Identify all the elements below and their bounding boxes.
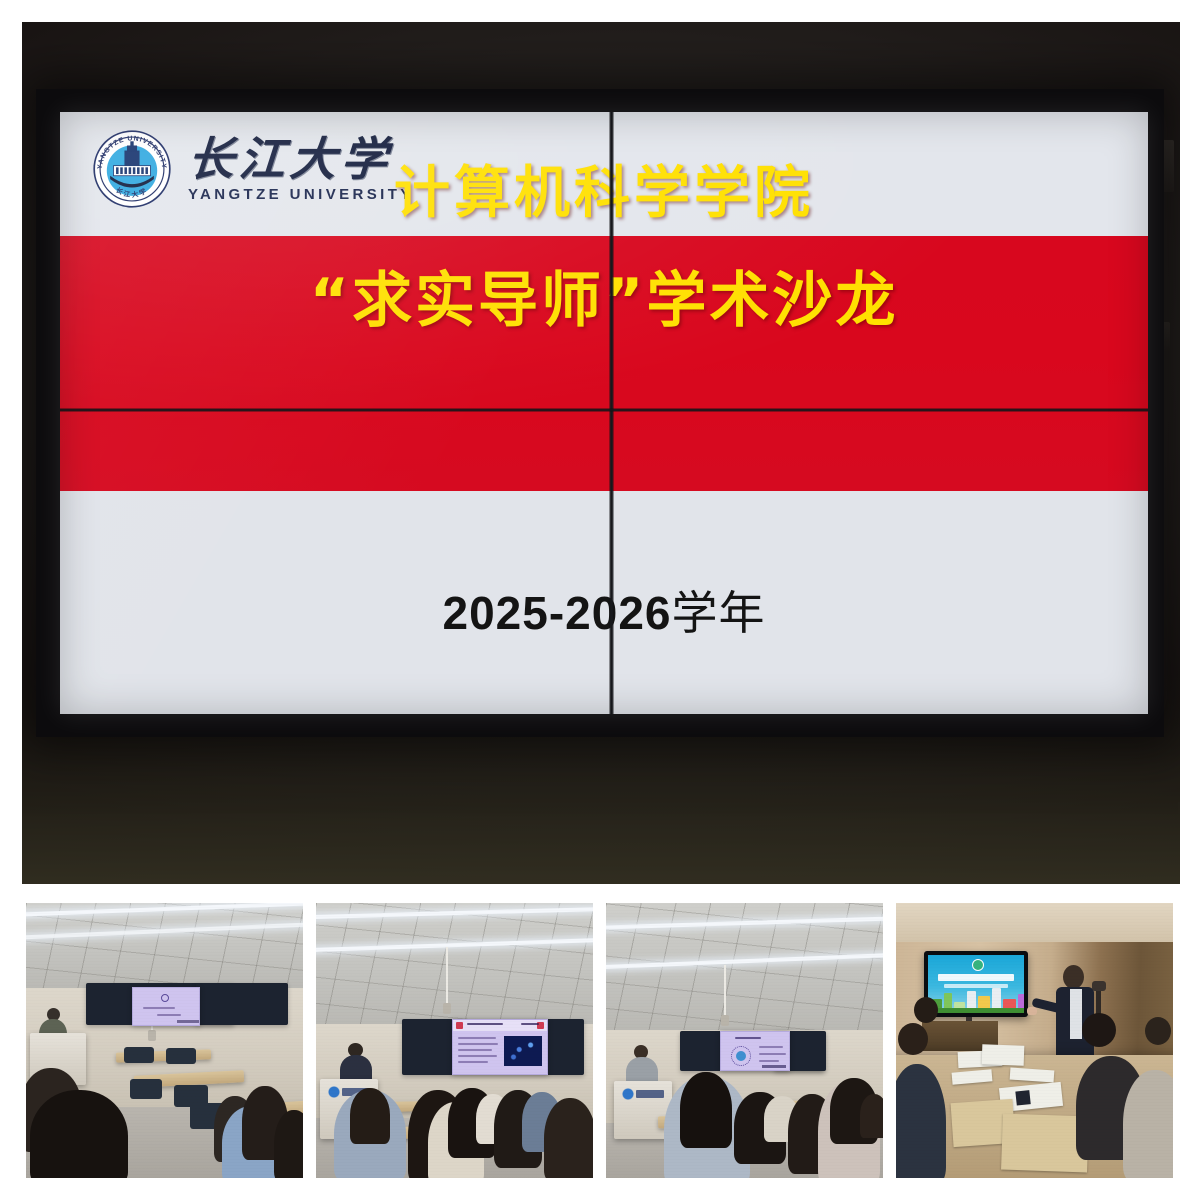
video-wall-photo: YANGTZE UNIVERSITY 长江大学 长江大学 YANGTZE UNI… [22,22,1180,884]
ceiling [26,903,303,994]
title-slide: YANGTZE UNIVERSITY 长江大学 长江大学 YANGTZE UNI… [60,112,1148,714]
list-item [896,903,1173,1178]
wall-tv [924,951,1028,1017]
ceiling [316,903,593,1030]
projector-cord [724,965,726,1017]
student-silhouette [30,1090,128,1178]
skyline-graphic [928,989,1024,1013]
academic-year-suffix: 学年 [671,586,765,640]
video-wall-horizontal-bezel [60,408,1148,412]
slide-title-line1: 计算机科学学院 [60,148,1148,229]
student-silhouette [274,1110,303,1178]
audience [606,1024,883,1178]
attendee-head [1145,1017,1171,1045]
attendee-head [1082,1013,1116,1047]
ceiling [896,903,1173,942]
audience [26,1035,303,1178]
video-wall-vertical-bezel [609,112,614,714]
student-silhouette [860,1094,883,1138]
student-silhouette [544,1098,593,1178]
document-stack [982,1044,1025,1065]
audience [316,1024,593,1178]
video-wall-screen: YANGTZE UNIVERSITY 长江大学 长江大学 YANGTZE UNI… [60,112,1148,714]
attendee-silhouette [1123,1070,1173,1178]
ceiling-grid [26,903,303,994]
slide-academic-year: 2025-2026学年 [60,577,1148,643]
student-silhouette [680,1072,732,1148]
video-wall-display: YANGTZE UNIVERSITY 长江大学 长江大学 YANGTZE UNI… [36,89,1164,737]
list-item [26,903,303,1178]
attendee-head [914,997,938,1023]
list-item [316,903,593,1178]
ceiling-grid [316,903,593,1030]
attendee-head [898,1023,928,1055]
student-silhouette [350,1088,390,1144]
tv-slide [928,955,1024,1013]
slide-title-line2: “求实导师”学术沙龙 [60,252,1148,339]
collage-root: YANGTZE UNIVERSITY 长江大学 长江大学 YANGTZE UNI… [0,0,1200,1200]
projector-cord [446,947,448,1005]
floor-lamp-head [1092,981,1106,991]
whiteboard-right [196,983,288,1025]
academic-year-number: 2025-2026 [443,587,672,639]
photo-strip [26,903,1178,1178]
list-item [606,903,883,1178]
projection-screen [132,987,200,1026]
